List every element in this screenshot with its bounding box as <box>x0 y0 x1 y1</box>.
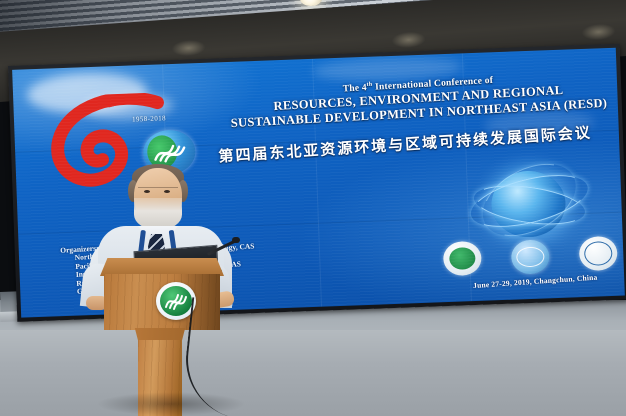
speaker-eye <box>164 190 170 193</box>
neigae-institute-logo <box>443 241 482 276</box>
microphone-head-icon <box>232 237 240 243</box>
conference-photo: 1958-2018 The 4th International Conferen… <box>0 0 626 416</box>
anniversary-years: 1958-2018 <box>132 114 166 123</box>
geographical-society-logo <box>579 236 618 271</box>
partner-institute-logo <box>511 239 550 274</box>
speaker-beard <box>134 198 182 230</box>
speaker-eye <box>144 190 150 193</box>
podium-floor-shadow <box>96 392 246 416</box>
stage-floor <box>0 330 626 416</box>
